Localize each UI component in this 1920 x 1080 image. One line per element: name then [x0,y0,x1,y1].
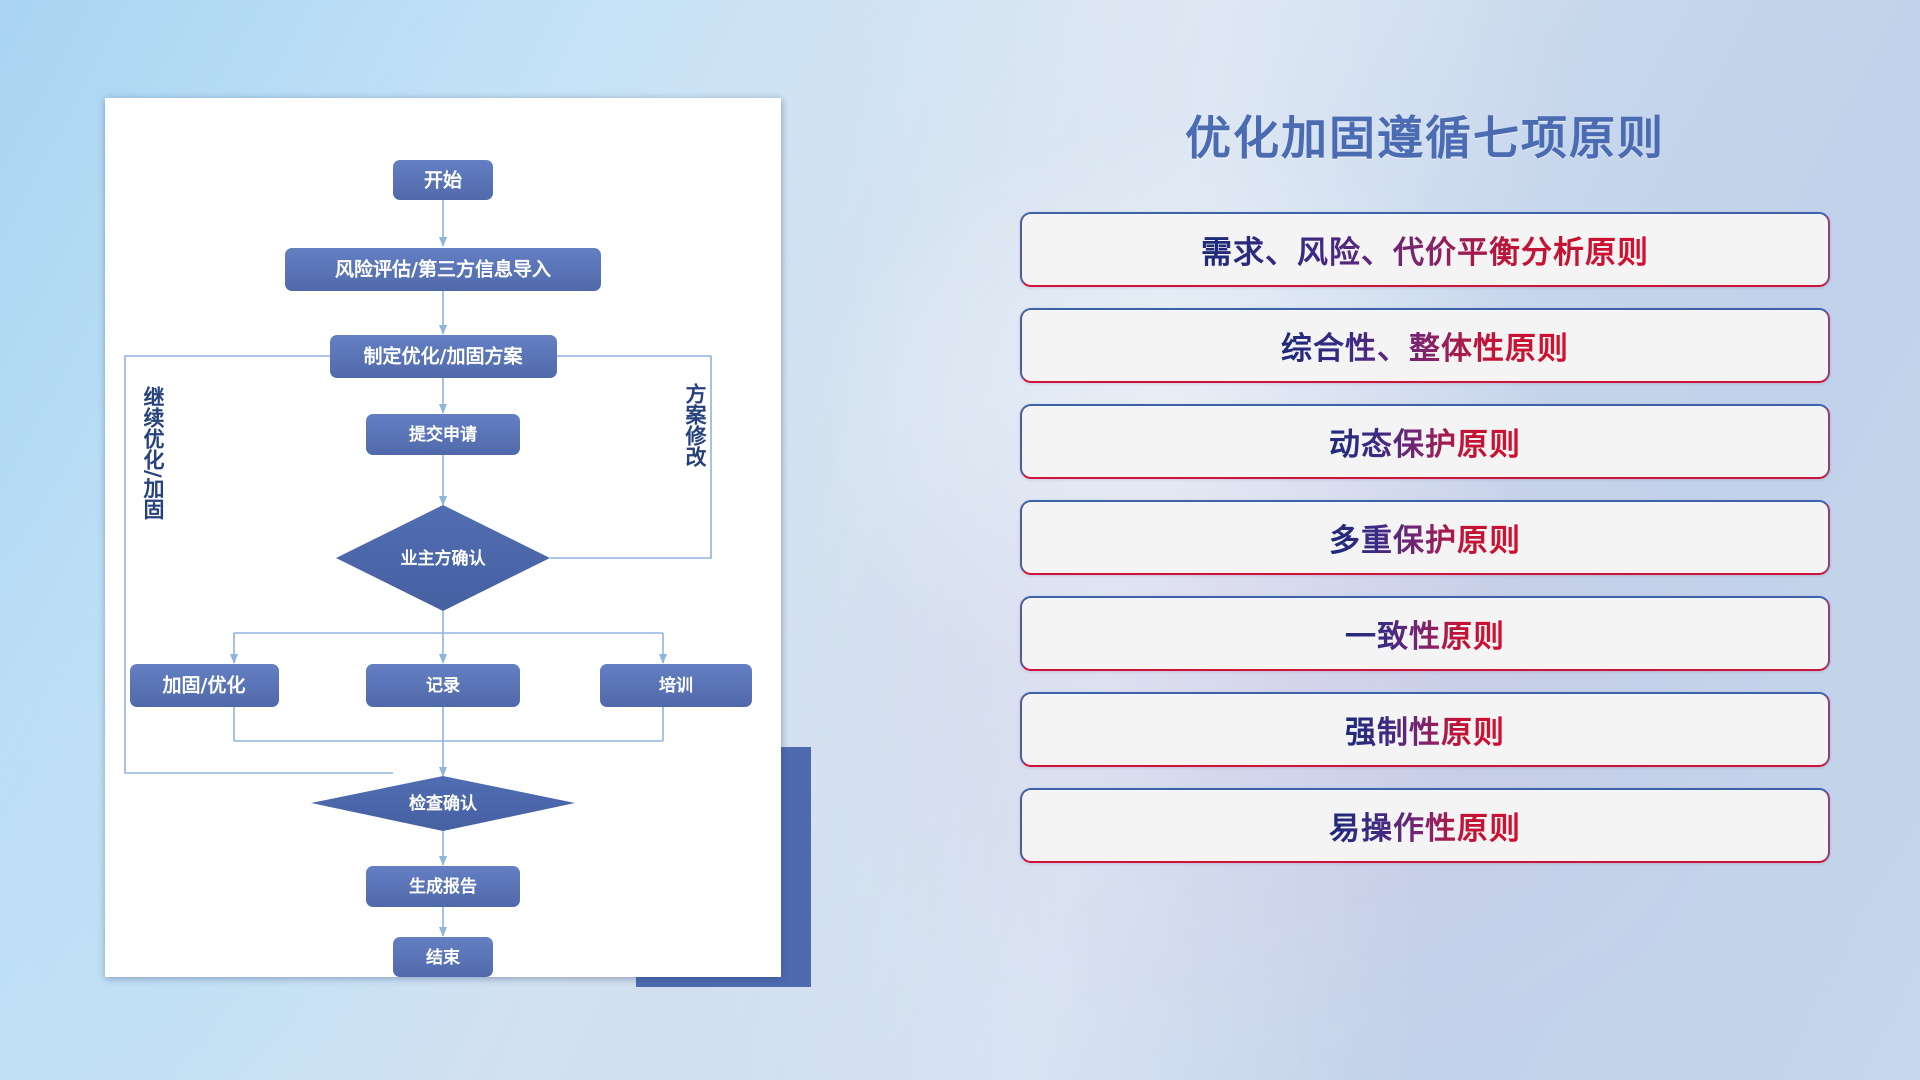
node-training[interactable]: 培训 [600,664,752,707]
principle-label: 动态保护原则 [1329,419,1521,464]
principle-card[interactable]: 易操作性原则 [1020,788,1830,863]
principles-panel: 优化加固遵循七项原则 需求、风险、代价平衡分析原则 综合性、整体性原则 动态保护… [1020,90,1830,1010]
principles-list: 需求、风险、代价平衡分析原则 综合性、整体性原则 动态保护原则 多重保护原则 一… [1020,212,1830,863]
flowchart-diagram: 开始 风险评估/第三方信息导入 制定优化/加固方案 提交申请 业主方确认 加固/… [105,98,781,977]
principle-label: 多重保护原则 [1329,515,1521,560]
node-owner-confirm[interactable]: 业主方确认 [336,505,550,611]
node-risk-assessment[interactable]: 风险评估/第三方信息导入 [285,248,601,291]
principle-card[interactable]: 多重保护原则 [1020,500,1830,575]
principle-card[interactable]: 动态保护原则 [1020,404,1830,479]
node-submit-application-label: 提交申请 [409,424,477,445]
node-reinforce-optimize[interactable]: 加固/优化 [130,664,279,707]
node-end[interactable]: 结束 [393,937,493,977]
node-make-plan-label: 制定优化/加固方案 [364,345,524,368]
principle-card[interactable]: 一致性原则 [1020,596,1830,671]
principle-label: 易操作性原则 [1329,803,1521,848]
principle-card[interactable]: 综合性、整体性原则 [1020,308,1830,383]
edge-owner-to-plan-revise [465,356,711,558]
node-start-label: 开始 [424,169,462,192]
node-record-label: 记录 [426,676,460,696]
node-training-label: 培训 [659,675,693,696]
principle-label: 需求、风险、代价平衡分析原则 [1201,227,1649,272]
principle-label: 一致性原则 [1345,611,1505,656]
node-start[interactable]: 开始 [393,160,493,200]
node-check-confirm[interactable]: 检查确认 [311,776,575,831]
principle-card[interactable]: 强制性原则 [1020,692,1830,767]
principle-label: 综合性、整体性原则 [1281,323,1569,368]
flowchart-card: 开始 风险评估/第三方信息导入 制定优化/加固方案 提交申请 业主方确认 加固/… [105,98,781,977]
node-record[interactable]: 记录 [366,664,520,707]
node-risk-assessment-label: 风险评估/第三方信息导入 [335,258,551,281]
node-submit-application[interactable]: 提交申请 [366,414,520,455]
principle-label: 强制性原则 [1345,707,1505,752]
panel-title: 优化加固遵循七项原则 [1020,90,1830,168]
principle-card[interactable]: 需求、风险、代价平衡分析原则 [1020,212,1830,287]
edge-label-plan-revise: 方案修改 [683,382,708,468]
node-check-confirm-label: 检查确认 [409,793,478,814]
node-generate-report[interactable]: 生成报告 [366,866,520,907]
node-owner-confirm-label: 业主方确认 [401,548,487,569]
node-generate-report-label: 生成报告 [409,876,477,897]
node-end-label: 结束 [426,947,460,968]
edge-label-continue-optimize: 继续优化/加固 [141,385,166,520]
node-reinforce-optimize-label: 加固/优化 [162,674,246,697]
node-make-plan[interactable]: 制定优化/加固方案 [330,335,557,378]
